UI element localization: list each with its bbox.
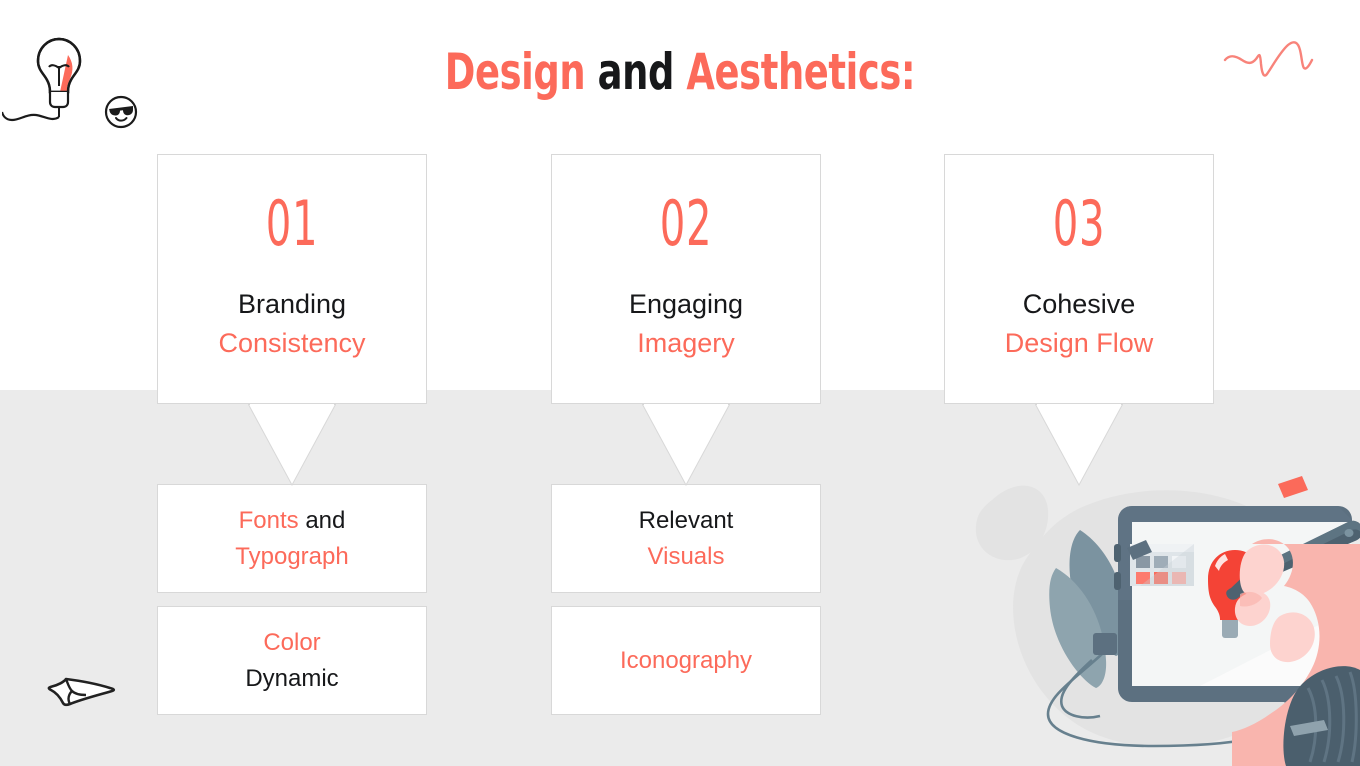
card-text-2: Engaging Imagery bbox=[552, 285, 820, 363]
page-title-part-2: and bbox=[585, 43, 686, 101]
card-1-line-1: Branding bbox=[238, 289, 346, 319]
card-3-line-1: Cohesive bbox=[1023, 289, 1136, 319]
speech-tail-2 bbox=[642, 404, 730, 486]
card-text-1: Branding Consistency bbox=[158, 285, 426, 363]
card-2-line-1: Engaging bbox=[629, 289, 743, 319]
speech-card-3[interactable]: 03 Cohesive Design Flow bbox=[944, 154, 1214, 404]
page-title-part-1: Design bbox=[445, 43, 585, 101]
subbox-2a[interactable]: Relevant Visuals bbox=[551, 484, 821, 593]
wavy-line-doodle-icon bbox=[1222, 38, 1344, 91]
card-number-3: 03 bbox=[983, 193, 1176, 255]
card-number-2: 02 bbox=[590, 193, 783, 255]
smiley-sunglasses-icon bbox=[104, 95, 138, 134]
subbox-1b[interactable]: Color Dynamic bbox=[157, 606, 427, 715]
column-1: 01 Branding Consistency bbox=[157, 154, 427, 404]
subbox-2a-line1-dark: Relevant bbox=[639, 507, 734, 534]
speech-card-2[interactable]: 02 Engaging Imagery bbox=[551, 154, 821, 404]
subbox-1a-line2-red: Typograph bbox=[235, 543, 348, 570]
stylus-end bbox=[1345, 529, 1354, 537]
subbox-2b[interactable]: Iconography bbox=[551, 606, 821, 715]
page-title: Design and Aesthetics: bbox=[122, 46, 1237, 99]
column-2: 02 Engaging Imagery bbox=[551, 154, 821, 404]
lightbulb-doodle-icon bbox=[2, 22, 97, 127]
card-2-line-2: Imagery bbox=[637, 328, 735, 358]
speech-tail-3 bbox=[1035, 404, 1123, 486]
column-3: 03 Cohesive Design Flow bbox=[944, 154, 1214, 404]
confetti-red bbox=[1278, 476, 1308, 498]
subbox-1b-line1-red: Color bbox=[263, 629, 320, 656]
subbox-1a[interactable]: Fonts and Typograph bbox=[157, 484, 427, 593]
tablet-button-2 bbox=[1114, 572, 1121, 590]
page-title-part-3: Aesthetics: bbox=[686, 43, 915, 101]
tablet-button-1 bbox=[1114, 544, 1121, 562]
subbox-2b-line1-red: Iconography bbox=[620, 647, 752, 674]
card-1-line-2: Consistency bbox=[218, 328, 365, 358]
card-3-line-2: Design Flow bbox=[1005, 328, 1154, 358]
subbox-1a-line1-dark: and bbox=[299, 507, 346, 534]
slide-canvas: Design and Aesthetics: bbox=[0, 0, 1360, 766]
card-number-1: 01 bbox=[196, 193, 389, 255]
speech-card-1[interactable]: 01 Branding Consistency bbox=[157, 154, 427, 404]
speech-tail-1 bbox=[248, 404, 336, 486]
tablet-port bbox=[1093, 633, 1117, 655]
designer-illustration bbox=[950, 448, 1360, 766]
subbox-1b-line2-dark: Dynamic bbox=[245, 665, 338, 692]
subbox-1a-line1-red: Fonts bbox=[239, 507, 299, 534]
subbox-2a-line2-red: Visuals bbox=[648, 543, 725, 570]
card-text-3: Cohesive Design Flow bbox=[945, 285, 1213, 363]
